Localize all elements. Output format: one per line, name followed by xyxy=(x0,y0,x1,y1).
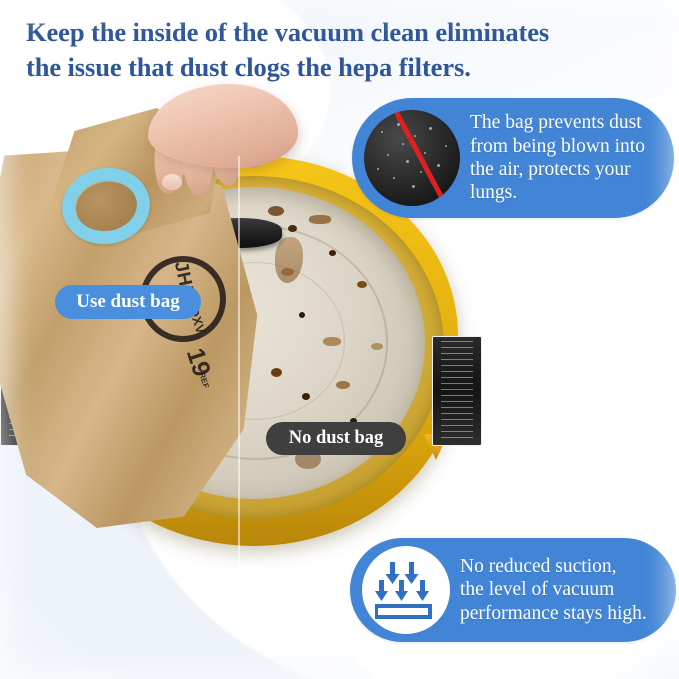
label-no-dust-bag-text: No dust bag xyxy=(289,428,384,449)
grime-spot xyxy=(329,250,336,256)
callout-dust-protection-text: The bag prevents dust from being blown i… xyxy=(470,111,645,205)
dust-speck xyxy=(393,177,395,179)
dust-speck xyxy=(437,164,440,167)
grime-spot xyxy=(336,381,350,389)
latch-ridges xyxy=(441,341,473,441)
drum-latch-right xyxy=(432,336,482,446)
callout-line-3: performance stays high. xyxy=(460,602,647,625)
callout-line-1: The bag prevents dust xyxy=(470,111,645,134)
grime-spot xyxy=(288,225,297,232)
callout-line-4: lungs. xyxy=(470,181,645,204)
dusty-circle-no-entry-icon xyxy=(364,110,460,206)
callout-suction-performance: No reduced suction, the level of vacuum … xyxy=(350,538,676,642)
callout-line-1: No reduced suction, xyxy=(460,555,647,578)
suction-arrows-svg xyxy=(375,560,437,620)
dust-speck xyxy=(414,135,416,137)
fingernail xyxy=(162,174,182,190)
callout-suction-performance-text: No reduced suction, the level of vacuum … xyxy=(460,555,647,625)
headline-line-2: the issue that dust clogs the hepa filte… xyxy=(26,50,646,85)
palm xyxy=(148,84,298,168)
callout-dust-protection: The bag prevents dust from being blown i… xyxy=(352,98,674,218)
grime-spot xyxy=(299,312,305,318)
grime-spot xyxy=(357,281,367,288)
dust-speck xyxy=(377,168,379,170)
grime-spot xyxy=(309,215,331,224)
label-use-dust-bag: Use dust bag xyxy=(55,285,201,319)
hand-holding-bag xyxy=(120,78,300,208)
promo-image: Keep the inside of the vacuum clean elim… xyxy=(0,0,679,679)
dust-speck xyxy=(420,171,422,173)
callout-line-3: the air, protects your xyxy=(470,158,645,181)
grime-spot xyxy=(323,337,341,346)
dust-speck xyxy=(406,160,409,163)
dust-speck xyxy=(387,154,389,156)
downward-arrows-suction-icon xyxy=(362,546,450,634)
dust-speck xyxy=(429,127,432,130)
label-use-dust-bag-text: Use dust bag xyxy=(76,291,179,313)
grime-spot xyxy=(302,393,310,400)
headline: Keep the inside of the vacuum clean elim… xyxy=(26,15,646,85)
label-no-dust-bag: No dust bag xyxy=(266,422,406,455)
callout-line-2: from being blown into xyxy=(470,135,645,158)
grime-spot xyxy=(371,343,383,350)
dust-speck xyxy=(381,131,383,133)
dust-speck xyxy=(424,152,426,154)
dust-speck xyxy=(402,143,404,145)
comparison-split-divider xyxy=(238,156,240,626)
dust-speck xyxy=(412,185,415,188)
dust-speck xyxy=(445,145,447,147)
callout-line-2: the level of vacuum xyxy=(460,578,647,601)
headline-line-1: Keep the inside of the vacuum clean elim… xyxy=(26,15,646,50)
